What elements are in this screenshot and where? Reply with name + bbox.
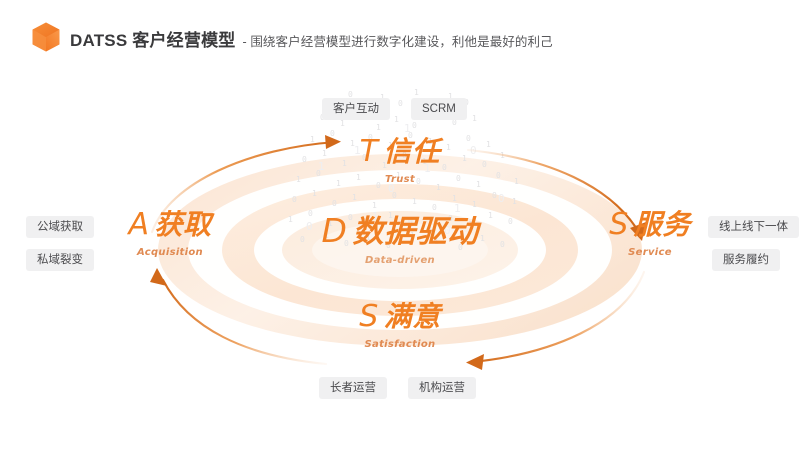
slide-header: DATSS 客户经营模型 - 围绕客户经营模型进行数字化建设，利他是最好的利己 xyxy=(0,0,800,62)
node-acquisition-main: A获取 xyxy=(100,210,240,240)
node-data-driven-main: D数据驱动 xyxy=(300,214,500,248)
node-acquisition[interactable]: A获取 Acquisition xyxy=(100,210,240,258)
node-trust-letter: T xyxy=(360,134,379,169)
node-data-driven-subtitle: Data-driven xyxy=(300,255,500,266)
node-acquisition-label: 获取 xyxy=(155,208,212,241)
node-satisfaction-main: S满意 xyxy=(325,302,475,332)
node-service-subtitle: Service xyxy=(580,247,720,258)
page-title: DATSS 客户经营模型 xyxy=(70,26,235,51)
arrow-satisfaction-to-acquisition xyxy=(150,268,326,364)
tag-acquisition-1[interactable]: 私域裂变 xyxy=(26,249,94,271)
hexagon-cube-logo-icon xyxy=(31,21,61,53)
node-trust-label: 信任 xyxy=(383,135,440,168)
page-subtitle: - 围绕客户经营模型进行数字化建设，利他是最好的利己 xyxy=(242,31,552,50)
node-data-driven-letter: D xyxy=(322,211,348,250)
node-service-label: 服务 xyxy=(634,208,691,241)
tag-acquisition-0[interactable]: 公域获取 xyxy=(26,216,94,238)
node-service[interactable]: S服务 Service xyxy=(580,210,720,258)
datss-cycle-diagram: 101 101 010 010 110 101 101 010 110 1 01… xyxy=(0,62,800,450)
node-acquisition-letter: A xyxy=(128,207,149,242)
node-trust-subtitle: Trust xyxy=(325,174,475,185)
node-trust[interactable]: T信任 Trust xyxy=(325,137,475,185)
tag-trust-0[interactable]: 客户互动 xyxy=(322,98,390,120)
node-satisfaction-letter: S xyxy=(359,299,379,334)
tag-satisfaction-0[interactable]: 长者运营 xyxy=(319,377,387,399)
node-data-driven-label: 数据驱动 xyxy=(352,214,478,250)
slide-canvas: DATSS 客户经营模型 - 围绕客户经营模型进行数字化建设，利他是最好的利己 xyxy=(0,0,800,450)
node-acquisition-subtitle: Acquisition xyxy=(100,247,240,258)
node-service-letter: S xyxy=(609,207,629,242)
node-satisfaction-label: 满意 xyxy=(384,300,441,333)
tag-service-0[interactable]: 线上线下一体 xyxy=(708,216,799,238)
arrow-service-to-satisfaction xyxy=(466,272,644,370)
node-data-driven[interactable]: D数据驱动 Data-driven xyxy=(300,214,500,266)
node-satisfaction[interactable]: S满意 Satisfaction xyxy=(325,302,475,350)
tag-satisfaction-1[interactable]: 机构运营 xyxy=(408,377,476,399)
header-title-block: DATSS 客户经营模型 - 围绕客户经营模型进行数字化建设，利他是最好的利己 xyxy=(70,26,553,51)
tag-service-1[interactable]: 服务履约 xyxy=(712,249,780,271)
tag-trust-1[interactable]: SCRM xyxy=(411,98,467,120)
node-service-main: S服务 xyxy=(580,210,720,240)
node-satisfaction-subtitle: Satisfaction xyxy=(325,339,475,350)
node-trust-main: T信任 xyxy=(325,137,475,167)
